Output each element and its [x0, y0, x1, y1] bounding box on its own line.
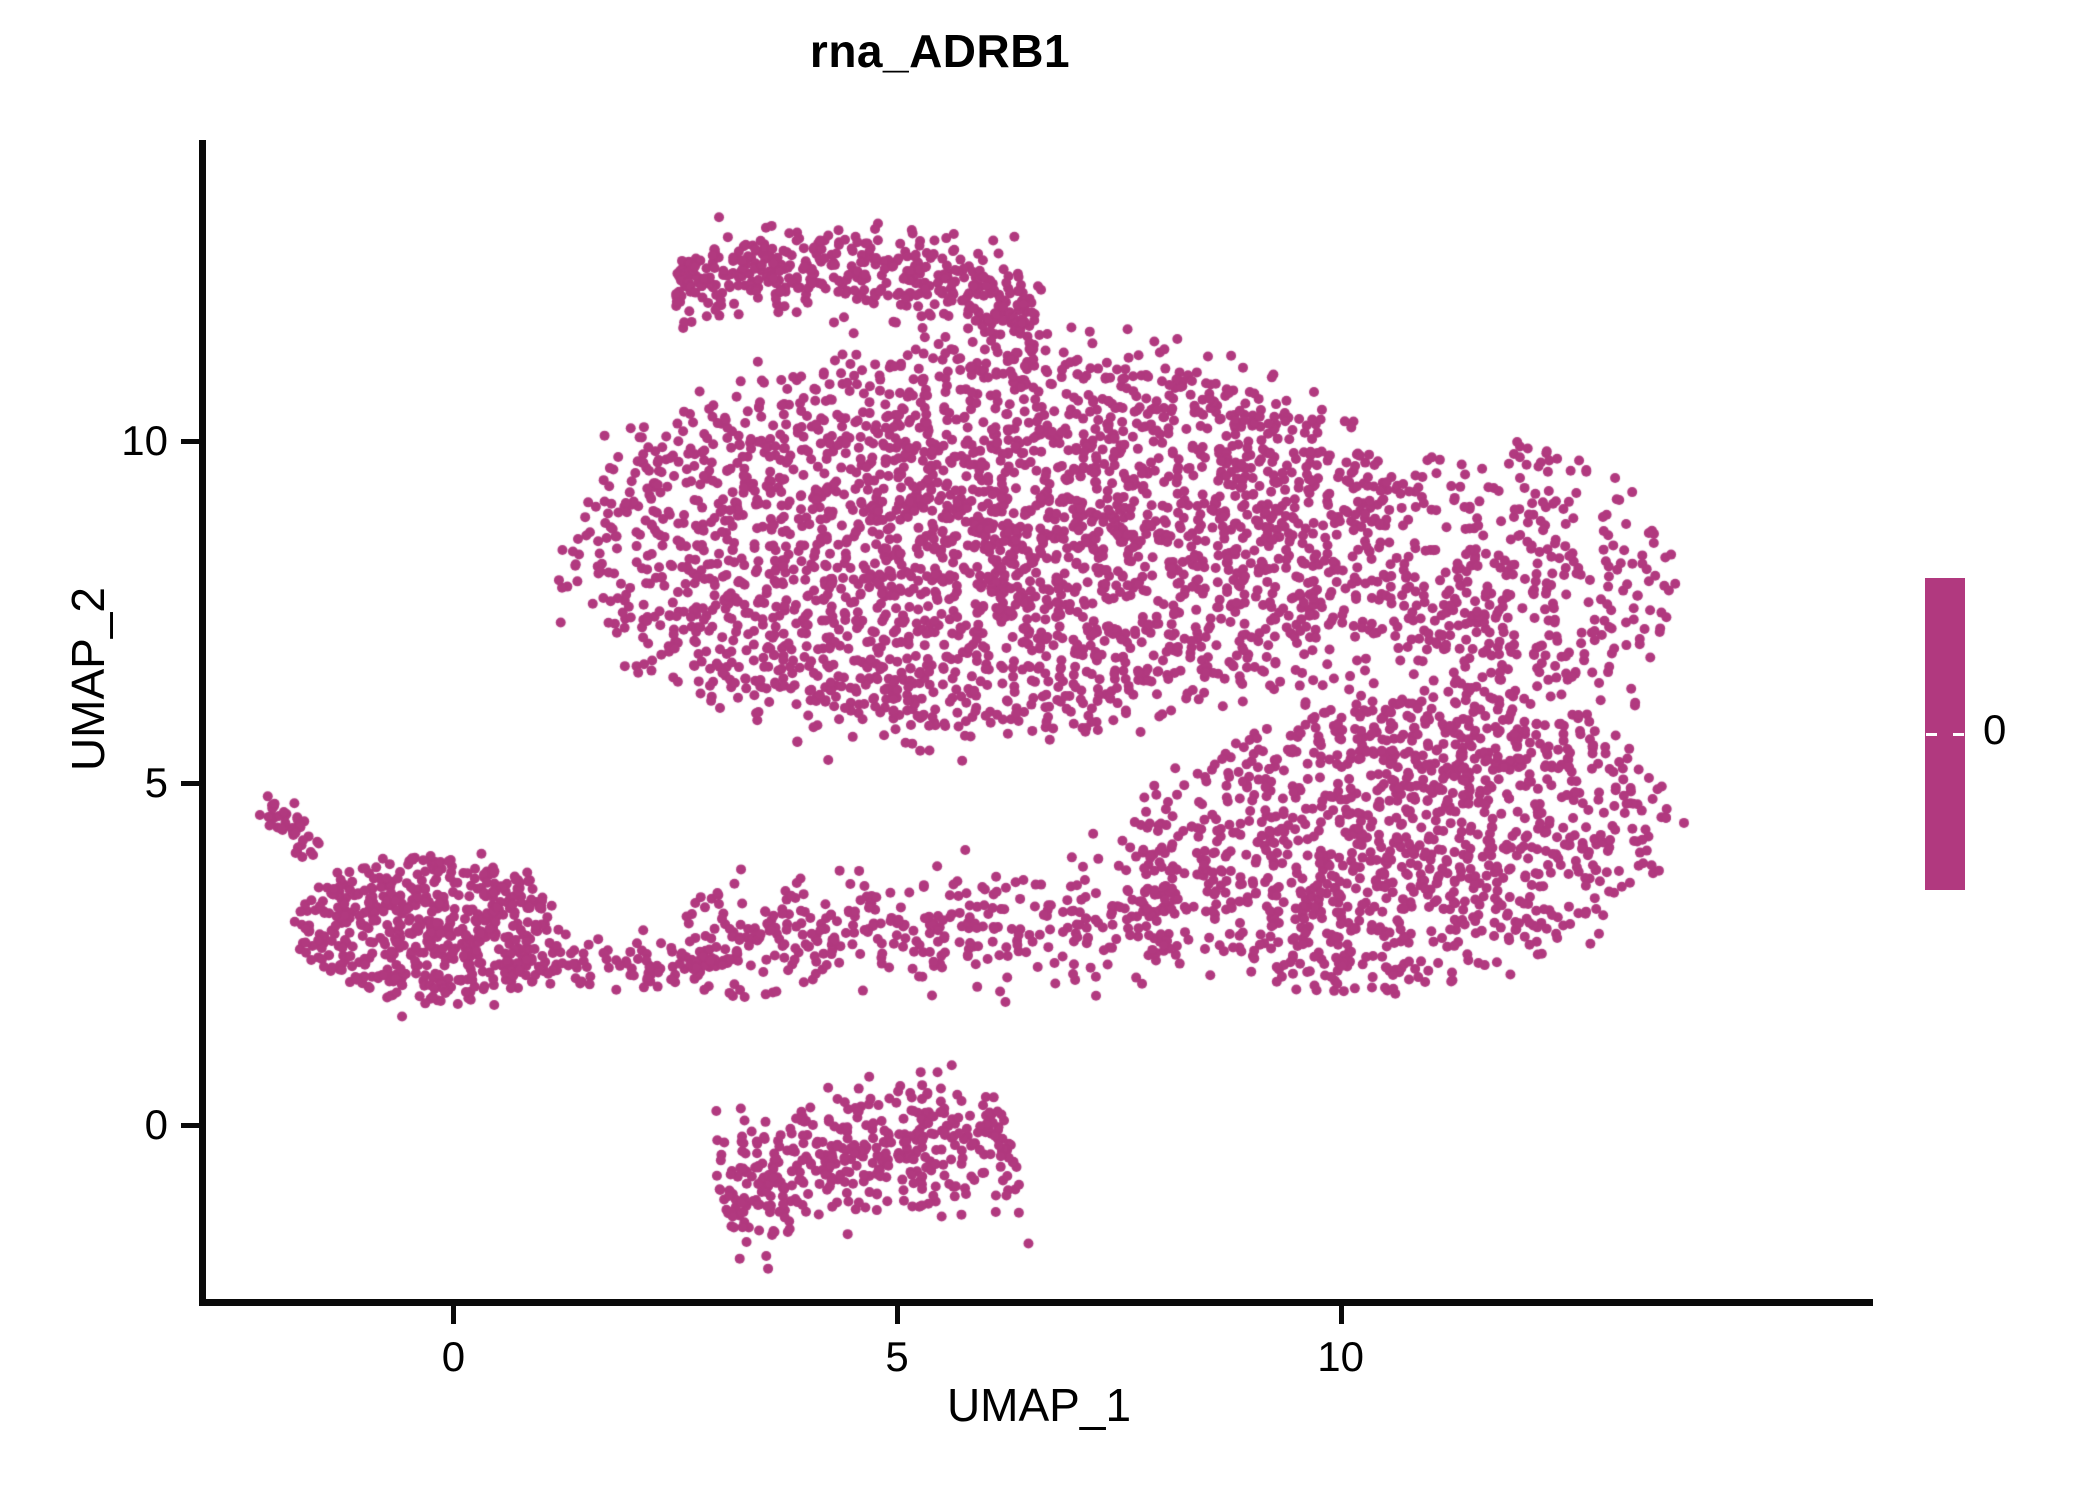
x-axis-title: UMAP_1: [205, 1382, 1873, 1428]
x-tick-label: 0: [353, 1336, 553, 1378]
x-tick-label: 10: [1241, 1336, 1441, 1378]
x-tick-mark: [451, 1306, 456, 1324]
x-tick-mark: [895, 1306, 900, 1324]
umap-feature-plot: rna_ADRB1 05100510 UMAP_1 UMAP_2 0: [0, 0, 2100, 1500]
x-tick-label: 5: [797, 1336, 997, 1378]
legend-colorbar-group: 0: [1925, 578, 2095, 890]
y-tick-label: 0: [40, 1104, 168, 1146]
y-axis-title: UMAP_2: [65, 329, 111, 1029]
plot-panel: [205, 140, 1873, 1303]
x-axis-line: [199, 1299, 1873, 1306]
legend-tick-left: [1926, 733, 1937, 736]
legend-tick-label: 0: [1983, 709, 2006, 751]
y-tick-mark: [181, 781, 199, 786]
scatter-points-layer: [205, 140, 1873, 1303]
page-title: rna_ADRB1: [0, 28, 1880, 74]
legend-tick-right: [1953, 733, 1964, 736]
y-axis-line: [199, 140, 206, 1304]
y-tick-mark: [181, 1123, 199, 1128]
y-tick-mark: [181, 439, 199, 444]
x-tick-mark: [1339, 1306, 1344, 1324]
